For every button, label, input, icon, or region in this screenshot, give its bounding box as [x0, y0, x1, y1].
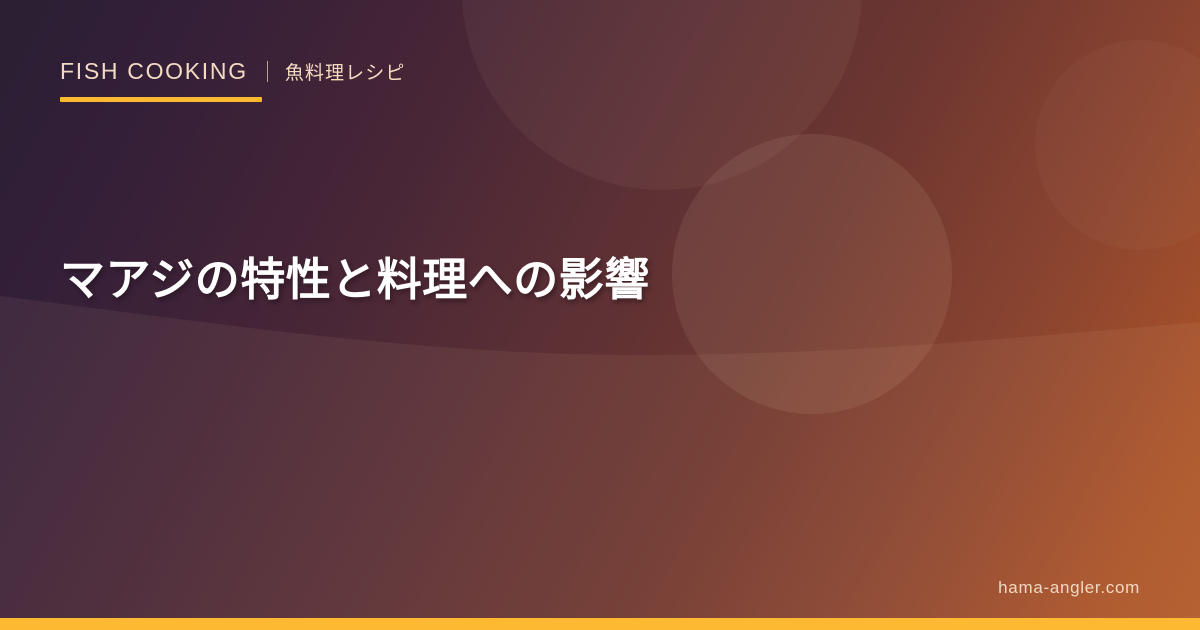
divider: [267, 61, 268, 82]
page-title: マアジの特性と料理への影響: [60, 251, 650, 309]
accent-underline: [60, 97, 262, 102]
breadcrumb: FISH COOKING 魚料理レシピ: [60, 56, 405, 86]
card-content: FISH COOKING 魚料理レシピ マアジの特性と料理への影響 hama-a…: [0, 0, 1200, 630]
site-url-label: hama-angler.com: [998, 578, 1140, 598]
category-label: 魚料理レシピ: [285, 58, 406, 85]
accent-bottom-bar: [0, 618, 1200, 630]
og-image-card: FISH COOKING 魚料理レシピ マアジの特性と料理への影響 hama-a…: [0, 0, 1200, 630]
site-name-label: FISH COOKING: [60, 58, 248, 85]
